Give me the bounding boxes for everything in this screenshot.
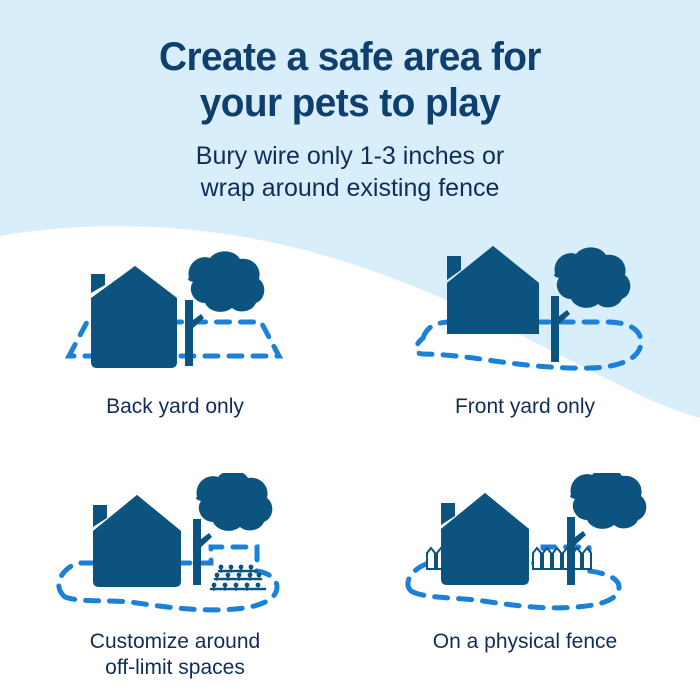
panel-caption: Back yard only: [106, 394, 244, 420]
panel-front-yard-only: Front yard only: [350, 238, 700, 469]
illustration-customize-around-off-limit-spaces: [25, 473, 325, 623]
caption-line-2: off-limit spaces: [90, 655, 260, 681]
headline-line-1: Create a safe area for: [159, 35, 541, 79]
panel-back-yard-only: Back yard only: [0, 238, 350, 469]
tree-icon: [185, 251, 264, 366]
panel-customize-around-off-limit-spaces: Customize around off-limit spaces: [0, 469, 350, 700]
page-title: Create a safe area for your pets to play: [11, 0, 690, 126]
subtitle-line-1: Bury wire only 1-3 inches or: [196, 142, 504, 170]
page-subtitle: Bury wire only 1-3 inches or wrap around…: [0, 126, 700, 204]
panel-caption: On a physical fence: [433, 629, 617, 655]
panel-grid: Back yard only Fr: [0, 238, 700, 700]
caption-line-1: On a physical fence: [433, 630, 617, 653]
headline-line-2: your pets to play: [11, 80, 690, 126]
panel-caption: Front yard only: [455, 394, 595, 420]
illustration-back-yard-only: [25, 238, 325, 388]
garden-bed-icon: [211, 565, 265, 590]
illustration-front-yard-only: [375, 238, 675, 388]
subtitle-line-2: wrap around existing fence: [0, 172, 700, 204]
caption-line-1: Back yard only: [106, 395, 244, 418]
house-icon: [441, 493, 529, 585]
infographic-root: Create a safe area for your pets to play…: [0, 0, 700, 700]
house-icon: [91, 266, 177, 368]
panel-on-a-physical-fence: On a physical fence: [350, 469, 700, 700]
caption-line-1: Customize around: [90, 630, 260, 653]
illustration-on-a-physical-fence: [375, 473, 675, 623]
caption-line-1: Front yard only: [455, 395, 595, 418]
tree-icon: [551, 247, 630, 362]
house-icon: [93, 495, 181, 587]
house-icon: [447, 246, 539, 334]
header: Create a safe area for your pets to play…: [0, 0, 700, 204]
panel-caption: Customize around off-limit spaces: [90, 629, 260, 681]
